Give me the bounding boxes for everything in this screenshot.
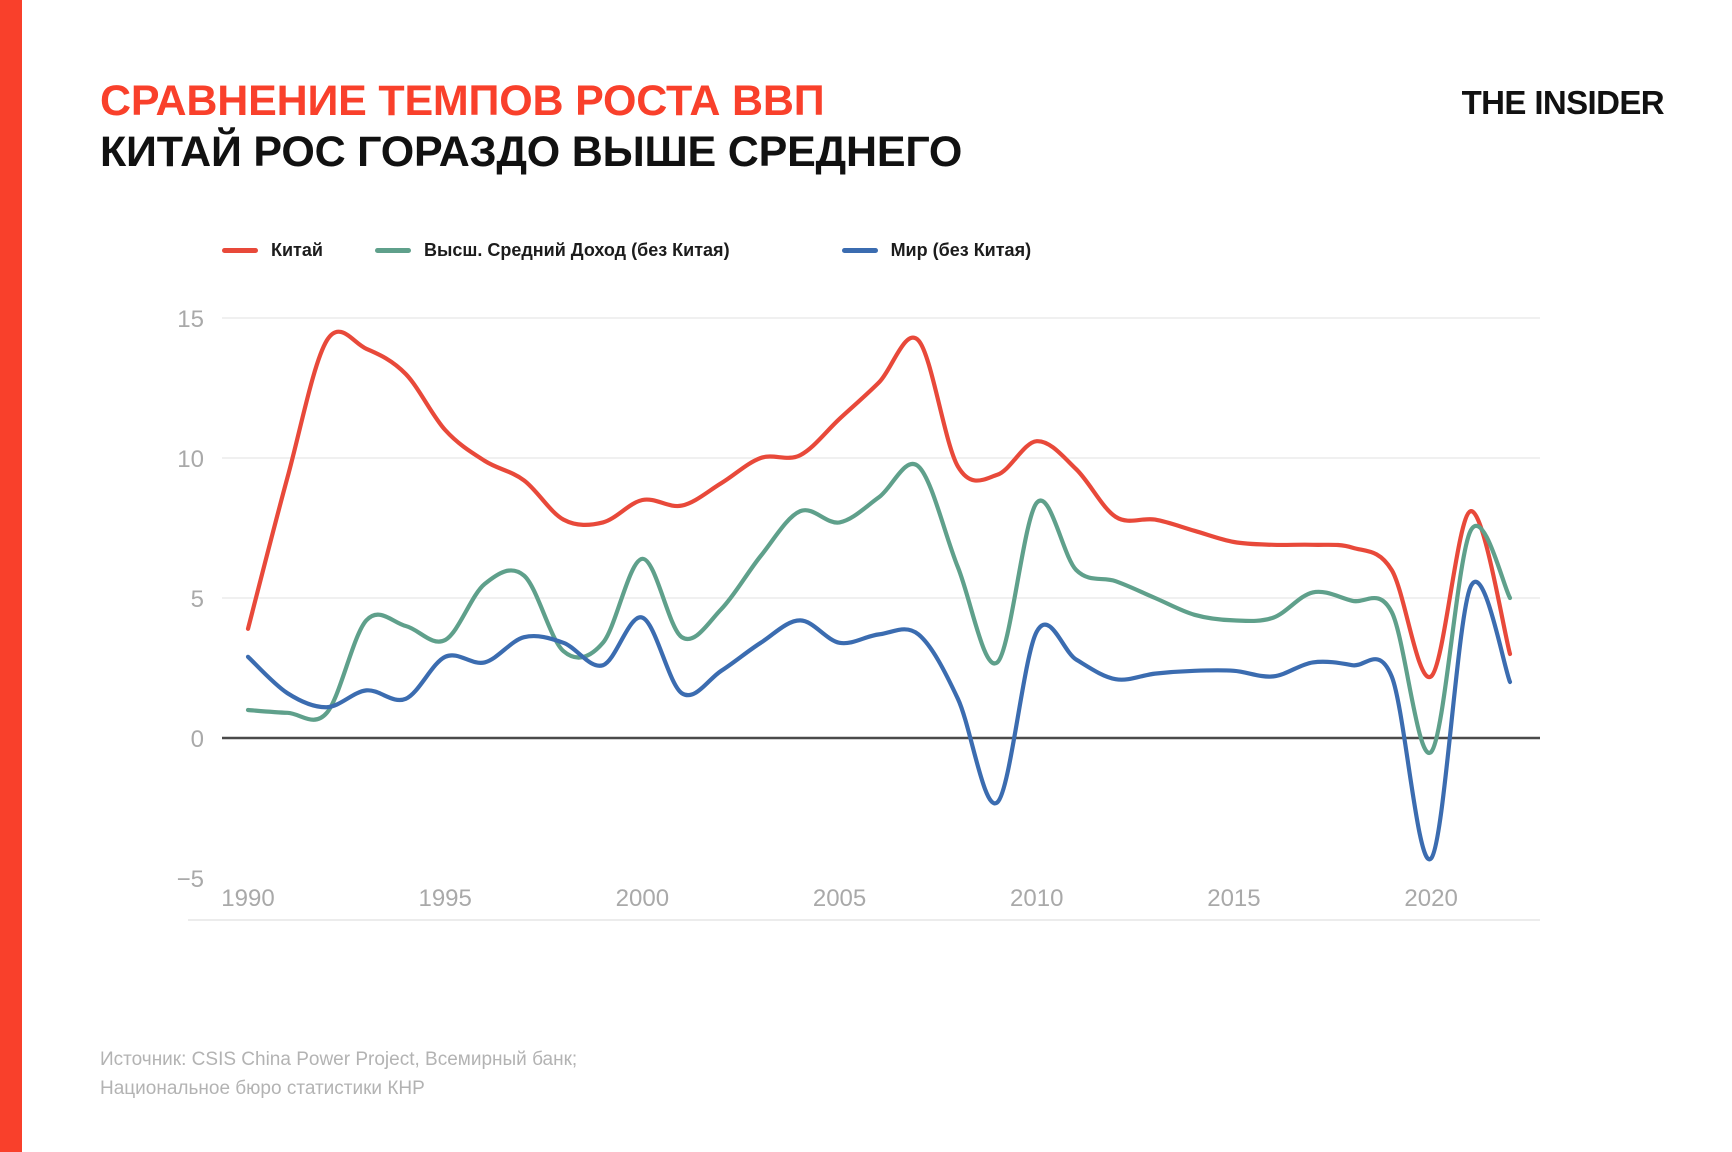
- source-line-2: Национальное бюро статистики КНР: [100, 1074, 577, 1103]
- x-axis-tick-label: 2015: [1207, 885, 1260, 912]
- series-line: [248, 464, 1510, 753]
- page-subtitle: КИТАЙ РОС ГОРАЗДО ВЫШЕ СРЕДНЕГО: [100, 128, 1660, 176]
- y-axis-tick-label: 10: [177, 446, 204, 473]
- header: СРАВНЕНИЕ ТЕМПОВ РОСТА ВВП КИТАЙ РОС ГОР…: [100, 78, 1660, 177]
- x-axis-tick-label: 1995: [418, 885, 471, 912]
- legend-item-upper-middle-income[interactable]: Высш. Средний Доход (без Китая): [375, 240, 730, 261]
- legend-item-china[interactable]: Китай: [222, 240, 323, 261]
- legend-swatch-china: [222, 248, 258, 253]
- y-axis-ticks: 151050−5: [177, 306, 204, 893]
- legend-label-upper-middle-income: Высш. Средний Доход (без Китая): [424, 240, 730, 261]
- legend-label-china: Китай: [271, 240, 323, 261]
- y-axis-tick-label: 0: [191, 726, 204, 753]
- legend-swatch-upper-middle-income: [375, 248, 411, 253]
- page-title: СРАВНЕНИЕ ТЕМПОВ РОСТА ВВП: [100, 78, 1660, 124]
- data-series: [248, 332, 1510, 860]
- legend-item-world[interactable]: Мир (без Китая): [842, 240, 1032, 261]
- y-axis-tick-label: 5: [191, 586, 204, 613]
- y-axis-tick-label: −5: [177, 866, 204, 893]
- series-line: [248, 582, 1510, 860]
- series-line: [248, 332, 1510, 677]
- source-line-1: Источник: CSIS China Power Project, Всем…: [100, 1045, 577, 1074]
- legend-swatch-world: [842, 248, 878, 253]
- legend-label-world: Мир (без Китая): [891, 240, 1032, 261]
- gdp-growth-line-chart: 151050−5 1990199520002005201020152020: [100, 288, 1660, 988]
- y-axis-tick-label: 15: [177, 306, 204, 333]
- brand-logo: THE INSIDER: [1462, 84, 1664, 122]
- left-accent-bar: [0, 0, 22, 1152]
- chart-area: 151050−5 1990199520002005201020152020: [100, 288, 1660, 988]
- x-axis-tick-label: 1990: [221, 885, 274, 912]
- source-note: Источник: CSIS China Power Project, Всем…: [100, 1045, 577, 1104]
- x-axis-ticks: 1990199520002005201020152020: [221, 885, 1458, 912]
- chart-legend: Китай Высш. Средний Доход (без Китая) Ми…: [222, 240, 1031, 261]
- chart-page: СРАВНЕНИЕ ТЕМПОВ РОСТА ВВП КИТАЙ РОС ГОР…: [0, 0, 1732, 1152]
- x-axis-tick-label: 2020: [1404, 885, 1457, 912]
- x-axis-tick-label: 2000: [616, 885, 669, 912]
- x-axis-tick-label: 2005: [813, 885, 866, 912]
- x-axis-tick-label: 2010: [1010, 885, 1063, 912]
